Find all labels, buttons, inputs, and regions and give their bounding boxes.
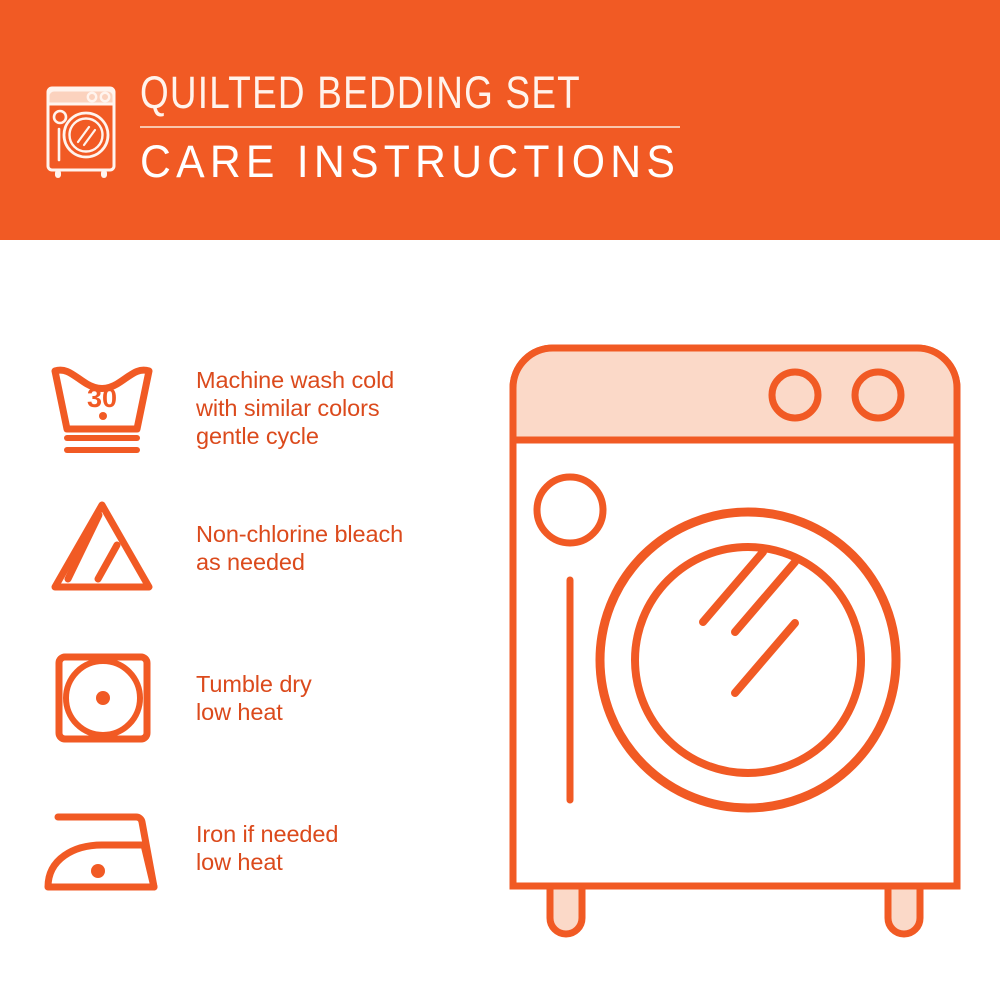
care-item-iron: Iron if needed low heat bbox=[0, 788, 480, 908]
header-title-group: QUILTED BEDDING SET CARE INSTRUCTIONS bbox=[140, 68, 700, 188]
care-item-label: Tumble dry low heat bbox=[196, 670, 312, 726]
tumble-dry-low-heat-icon bbox=[40, 638, 170, 758]
care-item-bleach: Non-chlorine bleach as needed bbox=[0, 488, 480, 608]
care-item-label: Machine wash cold with similar colors ge… bbox=[196, 366, 394, 450]
page-subtitle: CARE INSTRUCTIONS bbox=[140, 136, 672, 188]
care-instructions-infographic: QUILTED BEDDING SET CARE INSTRUCTIONS 30 bbox=[0, 0, 1000, 1000]
leg-left bbox=[550, 886, 582, 934]
control-panel bbox=[513, 348, 957, 440]
non-chlorine-bleach-triangle-icon bbox=[40, 488, 170, 608]
care-item-label: Non-chlorine bleach as needed bbox=[196, 520, 403, 576]
care-instruction-list: 30 Machine wash cold with similar colors… bbox=[0, 240, 480, 1000]
care-item-machine-wash: 30 Machine wash cold with similar colors… bbox=[0, 348, 480, 468]
page-title: QUILTED BEDDING SET bbox=[140, 68, 599, 118]
washing-machine-icon bbox=[44, 72, 118, 178]
header-banner: QUILTED BEDDING SET CARE INSTRUCTIONS bbox=[0, 0, 1000, 240]
title-divider bbox=[140, 126, 680, 128]
care-item-label: Iron if needed low heat bbox=[196, 820, 338, 876]
leg-right bbox=[888, 886, 920, 934]
care-item-tumble-dry: Tumble dry low heat bbox=[0, 638, 480, 758]
machine-wash-30-gentle-icon: 30 bbox=[40, 348, 170, 468]
front-load-washing-machine-illustration bbox=[495, 330, 975, 940]
iron-low-heat-icon bbox=[40, 788, 170, 908]
wash-temperature-label: 30 bbox=[87, 383, 117, 413]
